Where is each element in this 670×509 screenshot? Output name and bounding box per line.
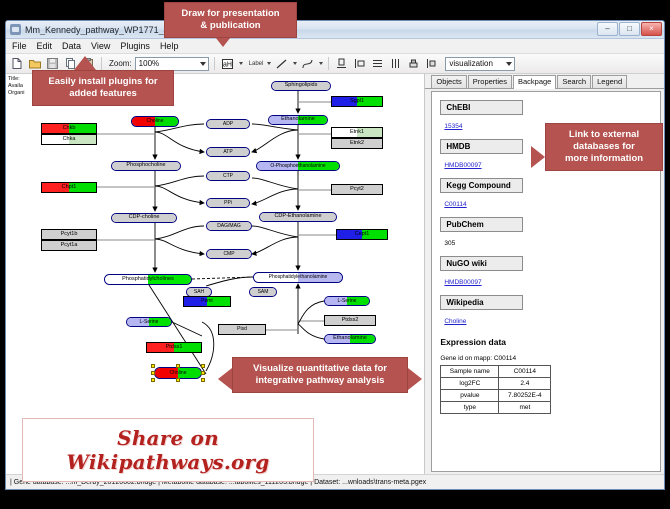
menu-item-data[interactable]: Data bbox=[61, 41, 82, 51]
gene-node-pcyt1a[interactable]: Pcyt1a bbox=[41, 240, 97, 251]
align-left-icon[interactable] bbox=[352, 56, 367, 71]
svg-text:aH: aH bbox=[223, 61, 232, 68]
metabolite-node-cmp[interactable]: CMP bbox=[206, 249, 252, 259]
database-value-row: HMDB00097 bbox=[440, 271, 652, 289]
toolbar-separator bbox=[328, 57, 329, 70]
chevron-down-icon[interactable] bbox=[319, 62, 323, 65]
metabolite-node-dag-mag[interactable]: DAG/MAG bbox=[206, 221, 252, 231]
node-label: Pcyt2 bbox=[350, 187, 364, 193]
expression-table: Sample nameC00114log2FC2.4pvalue7.80252E… bbox=[440, 365, 551, 414]
node-label: CMP bbox=[223, 252, 234, 257]
node-label: Ethanolamine bbox=[333, 336, 367, 342]
callout-visualize-arrow-left-icon bbox=[218, 368, 232, 390]
gene-node-sgpl1[interactable]: Sgpl1 bbox=[331, 96, 383, 107]
zoom-value: 100% bbox=[139, 59, 159, 68]
node-label: Sgpl1 bbox=[350, 99, 364, 105]
metabolite-node-ethanolamine[interactable]: Ethanolamine bbox=[324, 334, 376, 344]
database-link-wikipedia[interactable]: Choline bbox=[444, 318, 466, 325]
menu-item-help[interactable]: Help bbox=[159, 41, 180, 51]
visualization-value: visualization bbox=[449, 59, 493, 68]
zoom-combo[interactable]: 100% bbox=[135, 57, 209, 71]
node-label: Cept1 bbox=[355, 232, 370, 238]
expression-key: log2FC bbox=[441, 378, 499, 390]
menubar: File Edit Data View Plugins Help bbox=[6, 39, 664, 54]
arc-icon[interactable] bbox=[300, 56, 315, 71]
metabolite-node-phosphatidylcholines[interactable]: Phosphatidylcholines bbox=[104, 274, 192, 285]
expression-key: type bbox=[441, 402, 499, 414]
gene-node-pisd[interactable]: Pisd bbox=[218, 324, 266, 335]
expression-value: 2.4 bbox=[499, 378, 551, 390]
window-buttons: – □ × bbox=[597, 22, 662, 36]
database-link-chebi[interactable]: 15354 bbox=[444, 123, 462, 130]
callout-plugins-arrow-icon bbox=[74, 56, 96, 70]
node-label: Phosphatidylethanolamine bbox=[269, 275, 328, 280]
metabolite-node-l-serine[interactable]: L-Serine bbox=[126, 317, 172, 327]
gene-node-pemt[interactable]: Pemt bbox=[183, 296, 231, 307]
node-label: CTP bbox=[223, 174, 233, 179]
selection-handle[interactable] bbox=[151, 371, 155, 375]
node-label: Pcyt1a bbox=[61, 243, 78, 249]
close-button[interactable]: × bbox=[641, 22, 662, 36]
callout-share: Share on Wikipathways.org bbox=[22, 418, 314, 482]
node-label: Ptdss1 bbox=[166, 345, 183, 351]
align-bottom-icon[interactable] bbox=[334, 56, 349, 71]
node-label: Pcyt1b bbox=[61, 232, 78, 238]
node-label: Chpt1 bbox=[62, 185, 77, 191]
node-label: Chka bbox=[63, 137, 76, 143]
stack-icon[interactable] bbox=[406, 56, 421, 71]
screenshot-root: Mm_Kennedy_pathway_WP1771_45176.gpml – □… bbox=[0, 0, 670, 509]
gene-node-cept1[interactable]: Cept1 bbox=[336, 229, 388, 240]
open-folder-icon[interactable] bbox=[27, 56, 42, 71]
tab-objects[interactable]: Objects bbox=[431, 75, 466, 88]
expression-key: Sample name bbox=[441, 366, 499, 378]
distribute-horizontal-icon[interactable] bbox=[388, 56, 403, 71]
menu-item-edit[interactable]: Edit bbox=[36, 41, 54, 51]
node-label: Choline bbox=[170, 371, 187, 376]
tab-backpage[interactable]: Backpage bbox=[513, 75, 556, 89]
metabolite-node-ctp[interactable]: CTP bbox=[206, 171, 250, 181]
table-row: typemet bbox=[441, 402, 551, 414]
node-label: PPi bbox=[224, 201, 232, 206]
metabolite-node-adp[interactable]: ADP bbox=[206, 119, 250, 129]
metabolite-node-sam[interactable]: SAM bbox=[249, 287, 277, 297]
chevron-down-icon[interactable] bbox=[293, 62, 297, 65]
node-label: Chkb bbox=[63, 126, 76, 132]
database-link-hmdb[interactable]: HMDB00097 bbox=[444, 162, 481, 169]
line-icon[interactable] bbox=[274, 56, 289, 71]
maximize-button[interactable]: □ bbox=[619, 22, 640, 36]
node-label: Etnk1 bbox=[350, 130, 364, 136]
tab-search[interactable]: Search bbox=[557, 75, 591, 88]
node-label: Phosphatidylcholines bbox=[122, 277, 174, 283]
node-label: L-Serine bbox=[140, 320, 159, 325]
save-icon[interactable] bbox=[45, 56, 60, 71]
database-value-row: Choline bbox=[440, 310, 652, 328]
node-label: Pisd bbox=[237, 327, 247, 332]
node-label: CDP-Ethanolamine bbox=[274, 214, 321, 220]
gene-node-etnk2[interactable]: Etnk2 bbox=[331, 138, 383, 149]
node-label: Ethanolamine bbox=[281, 117, 315, 123]
node-label: Sphingolipids bbox=[285, 83, 318, 89]
gene-id-line: Gene id on mapp: C00114 bbox=[440, 355, 652, 362]
table-row: Sample nameC00114 bbox=[441, 366, 551, 378]
expression-data-title: Expression data bbox=[440, 337, 652, 347]
node-label: Ptdss2 bbox=[342, 318, 359, 324]
visualization-combo[interactable]: visualization bbox=[445, 57, 515, 71]
zoom-label: Zoom: bbox=[109, 59, 132, 68]
node-label: O-Phosphoethanolamine bbox=[270, 164, 325, 169]
selection-handle[interactable] bbox=[151, 378, 155, 382]
order-icon[interactable] bbox=[424, 56, 439, 71]
side-panel-tabs: Objects Properties Backpage Search Legen… bbox=[425, 74, 664, 89]
selection-handle[interactable] bbox=[176, 378, 180, 382]
metabolite-node-choline[interactable]: Choline bbox=[131, 116, 179, 127]
node-label: SAH bbox=[194, 290, 204, 295]
metabolite-node-o-phosphoethanolamine[interactable]: O-Phosphoethanolamine bbox=[256, 161, 340, 171]
distribute-vertical-icon[interactable] bbox=[370, 56, 385, 71]
selection-handle[interactable] bbox=[176, 364, 180, 368]
gene-node-ptdss2[interactable]: Ptdss2 bbox=[324, 315, 376, 326]
menu-item-file[interactable]: File bbox=[11, 41, 28, 51]
callout-visualize: Visualize quantitative data forintegrati… bbox=[232, 357, 408, 393]
expression-value: 7.80252E-4 bbox=[499, 390, 551, 402]
metabolite-node-ethanolamine[interactable]: Ethanolamine bbox=[268, 115, 328, 125]
callout-link-arrow-icon bbox=[531, 146, 545, 168]
new-file-icon[interactable] bbox=[9, 56, 24, 71]
callout-plugins: Easily install plugins foradded features bbox=[32, 70, 174, 106]
selection-handle[interactable] bbox=[151, 364, 155, 368]
node-label: L-Serine bbox=[338, 299, 357, 304]
gene-node-pcyt1b[interactable]: Pcyt1b bbox=[41, 229, 97, 240]
node-label: Phosphocholine bbox=[126, 163, 165, 169]
selection-handle[interactable] bbox=[201, 371, 205, 375]
database-value-row: C00114 bbox=[440, 193, 652, 211]
table-row: log2FC2.4 bbox=[441, 378, 551, 390]
node-label: DAG/MAG bbox=[217, 224, 241, 229]
chevron-down-icon[interactable] bbox=[239, 62, 243, 65]
metabolite-node-l-serine[interactable]: L-Serine bbox=[324, 296, 370, 306]
toolbar-separator bbox=[101, 57, 102, 70]
share-text: Share on Wikipathways.org bbox=[67, 426, 270, 474]
window-titlebar: Mm_Kennedy_pathway_WP1771_45176.gpml – □… bbox=[6, 21, 664, 39]
node-label: SAM bbox=[258, 290, 269, 295]
expression-value: C00114 bbox=[499, 366, 551, 378]
gene-node-ptdss1[interactable]: Ptdss1 bbox=[146, 342, 202, 353]
expression-value: met bbox=[499, 402, 551, 414]
label-dropdown-label: Label bbox=[249, 61, 264, 67]
database-link-nugo-wiki[interactable]: HMDB00097 bbox=[444, 279, 481, 286]
gene-node-chka[interactable]: Chka bbox=[41, 134, 97, 145]
callout-external-links: Link to externaldatabases formore inform… bbox=[545, 123, 663, 171]
metabolite-node-cdp-choline[interactable]: CDP-choline bbox=[111, 213, 177, 223]
database-header-wikipedia: Wikipedia bbox=[440, 295, 523, 310]
text-label-icon[interactable]: aH bbox=[220, 56, 235, 71]
expression-key: pvalue bbox=[441, 390, 499, 402]
tab-properties[interactable]: Properties bbox=[468, 75, 512, 88]
gene-node-chpt1[interactable]: Chpt1 bbox=[41, 182, 97, 193]
database-header-pubchem: PubChem bbox=[440, 217, 523, 232]
metabolite-node-ppi[interactable]: PPi bbox=[206, 198, 250, 208]
selection-handle[interactable] bbox=[201, 378, 205, 382]
database-header-chebi: ChEBI bbox=[440, 100, 523, 115]
database-header-nugo-wiki: NuGO wiki bbox=[440, 256, 523, 271]
node-label: CDP-choline bbox=[129, 215, 160, 221]
gene-node-etnk1[interactable]: Etnk1 bbox=[331, 127, 383, 138]
gene-node-chkb[interactable]: Chkb bbox=[41, 123, 97, 134]
database-value-pubchem: 305 bbox=[444, 240, 455, 247]
app-icon bbox=[10, 24, 21, 35]
selection-handle[interactable] bbox=[201, 364, 205, 368]
callout-visualize-arrow-right-icon bbox=[408, 368, 422, 390]
chevron-down-icon bbox=[200, 62, 206, 66]
metabolite-node-atp[interactable]: ATP bbox=[206, 147, 250, 157]
menu-item-view[interactable]: View bbox=[90, 41, 111, 51]
callout-draw: Draw for presentation& publication bbox=[164, 2, 297, 38]
database-value-row: 305 bbox=[440, 232, 652, 250]
metabolite-node-cdp-ethanolamine[interactable]: CDP-Ethanolamine bbox=[259, 212, 337, 222]
table-row: pvalue7.80252E-4 bbox=[441, 390, 551, 402]
menu-item-plugins[interactable]: Plugins bbox=[119, 41, 151, 51]
minimize-button[interactable]: – bbox=[597, 22, 618, 36]
database-header-kegg-compound: Kegg Compound bbox=[440, 178, 523, 193]
node-label: Choline bbox=[147, 119, 164, 124]
node-label: Etnk2 bbox=[350, 141, 364, 147]
metabolite-node-phosphatidylethanolamine[interactable]: Phosphatidylethanolamine bbox=[253, 272, 343, 283]
node-label: ATP bbox=[223, 150, 232, 155]
chevron-down-icon[interactable] bbox=[267, 62, 271, 65]
metabolite-node-sphingolipids[interactable]: Sphingolipids bbox=[271, 81, 331, 91]
toolbar-separator bbox=[214, 57, 215, 70]
gene-node-pcyt2[interactable]: Pcyt2 bbox=[331, 184, 383, 195]
database-link-kegg-compound[interactable]: C00114 bbox=[444, 201, 466, 208]
chevron-down-icon bbox=[506, 62, 512, 66]
metabolite-node-phosphocholine[interactable]: Phosphocholine bbox=[111, 161, 181, 171]
node-label: Pemt bbox=[201, 299, 213, 304]
tab-legend[interactable]: Legend bbox=[592, 75, 627, 88]
node-label: ADP bbox=[223, 122, 233, 127]
pathway-canvas[interactable]: Title: Availa Organi bbox=[6, 74, 425, 474]
database-header-hmdb: HMDB bbox=[440, 139, 523, 154]
